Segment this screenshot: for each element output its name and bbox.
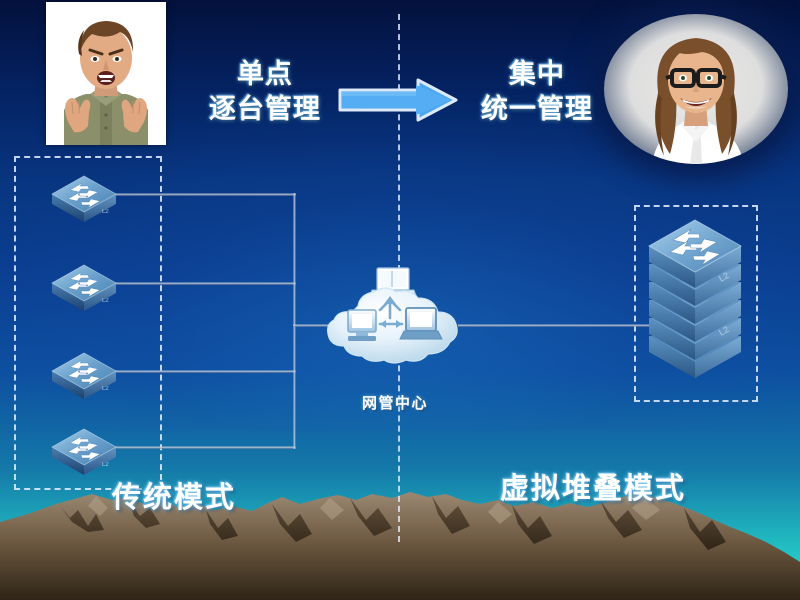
cloud-label: 网管中心 (330, 392, 460, 413)
wire-switch-4 (114, 446, 296, 449)
happy-admin-photo (604, 14, 788, 164)
desktop-icon (400, 308, 442, 339)
slide-canvas: 单点 逐台管理 集中 统一管理 (0, 0, 800, 600)
switch-2[interactable]: L2 (48, 257, 120, 315)
monitor-icon (348, 310, 376, 341)
switch-badge: L2 (102, 209, 109, 215)
headline-right: 集中 统一管理 (462, 58, 612, 127)
wire-switch-3 (114, 370, 296, 373)
headline-left: 单点 逐台管理 (190, 58, 340, 127)
wire-vertical-bus (293, 193, 296, 449)
frustrated-admin-photo (46, 2, 166, 145)
network-cloud-icon[interactable] (318, 266, 468, 370)
wire-cloud-to-stack (458, 324, 654, 327)
switch-badge: L2 (102, 462, 109, 468)
stacked-switch[interactable]: L2 L2 (643, 218, 747, 388)
wire-switch-2 (114, 282, 296, 285)
switch-badge: L2 (102, 386, 109, 392)
switch-1[interactable]: L2 (48, 168, 120, 226)
switch-badge: L2 (102, 298, 109, 304)
mode-label-traditional: 传统模式 (112, 474, 236, 516)
switch-3[interactable]: L2 (48, 345, 120, 403)
mode-label-virtual-stack: 虚拟堆叠模式 (500, 465, 686, 507)
switch-4[interactable]: L2 (48, 421, 120, 479)
transition-arrow (338, 78, 458, 122)
wire-switch-1 (114, 193, 296, 196)
